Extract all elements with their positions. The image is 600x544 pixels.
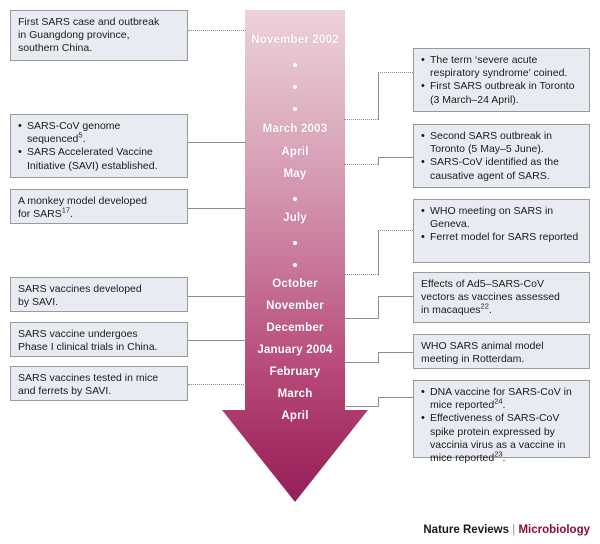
- figure-canvas: November 2002March 2003AprilMayJulyOctob…: [0, 0, 600, 544]
- event-box-ad5-macaques[interactable]: Effects of Ad5–SARS-CoV vectors as vacci…: [413, 272, 590, 323]
- list-item: Ferret model for SARS reported: [421, 231, 582, 244]
- connector-right-2b: [378, 157, 379, 165]
- connector-left-5: [188, 340, 246, 341]
- list-item: SARS-CoV identified as the causative age…: [421, 156, 582, 182]
- list-item: First SARS outbreak in Toronto (3 March–…: [421, 80, 582, 106]
- connector-right-3a: [344, 274, 378, 275]
- ref-marker: 24: [494, 397, 502, 406]
- event-box-dna-vaccine-vaccinia[interactable]: DNA vaccine for SARS-CoV in mice reporte…: [413, 380, 590, 458]
- box-line: SARS vaccine undergoes: [18, 328, 180, 341]
- box-line: First SARS case and outbreak: [18, 16, 180, 29]
- connector-left-4: [188, 296, 246, 297]
- connector-left-3: [188, 208, 246, 209]
- event-box-term-coined-toronto1[interactable]: The term ‘severe acute respiratory syndr…: [413, 48, 590, 112]
- connector-left-2: [188, 142, 246, 143]
- box-line: SARS vaccines developed: [18, 283, 180, 296]
- event-box-guangdong[interactable]: First SARS case and outbreak in Guangdon…: [10, 10, 188, 61]
- connector-right-1a: [344, 119, 378, 120]
- connector-right-1b: [378, 72, 379, 120]
- connector-left-6: [188, 384, 246, 385]
- connector-right-3c: [378, 230, 413, 231]
- list-item: DNA vaccine for SARS-CoV in mice reporte…: [421, 386, 582, 412]
- timeline-arrow: [222, 10, 368, 502]
- event-box-mice-ferrets-savi[interactable]: SARS vaccines tested in mice and ferrets…: [10, 366, 188, 401]
- event-box-genome-savi[interactable]: SARS-CoV genome sequenced5. SARS Acceler…: [10, 114, 188, 178]
- credit-separator: |: [512, 524, 515, 536]
- event-box-who-geneva-ferret[interactable]: WHO meeting on SARS in Geneva. Ferret mo…: [413, 199, 590, 263]
- connector-right-6c: [378, 397, 413, 398]
- box-line: meeting in Rotterdam.: [421, 353, 582, 366]
- connector-right-2a: [344, 164, 378, 165]
- connector-right-2c: [378, 157, 413, 158]
- box-line: in Guangdong province,: [18, 29, 180, 42]
- event-box-savi-vaccines[interactable]: SARS vaccines developed by SAVI.: [10, 277, 188, 312]
- box-line: SARS vaccines tested in mice: [18, 372, 180, 385]
- event-box-who-rotterdam[interactable]: WHO SARS animal model meeting in Rotterd…: [413, 334, 590, 369]
- box-line: WHO SARS animal model: [421, 340, 582, 353]
- box-line: by SAVI.: [18, 296, 180, 309]
- box-line: Phase I clinical trials in China.: [18, 341, 180, 354]
- box-line: southern China.: [18, 42, 180, 55]
- connector-right-6a: [344, 406, 378, 407]
- list-item: The term ‘severe acute respiratory syndr…: [421, 54, 582, 80]
- box-line: for SARS17.: [18, 208, 180, 221]
- ref-marker: 22: [481, 302, 489, 311]
- list-item: WHO meeting on SARS in Geneva.: [421, 205, 582, 231]
- connector-right-4a: [344, 318, 378, 319]
- box-line: vectors as vaccines assessed: [421, 291, 582, 304]
- connector-right-6b: [378, 397, 379, 407]
- list-item: Second SARS outbreak in Toronto (5 May–5…: [421, 130, 582, 156]
- connector-left-1: [188, 30, 246, 31]
- connector-right-1c: [378, 72, 413, 73]
- list-item: Effectiveness of SARS-CoV spike protein …: [421, 412, 582, 465]
- connector-right-3b: [378, 230, 379, 275]
- ref-marker: 17: [62, 206, 70, 215]
- connector-right-5a: [344, 362, 378, 363]
- journal-section: Microbiology: [518, 524, 590, 536]
- connector-right-5b: [378, 352, 379, 363]
- journal-name: Nature Reviews: [423, 524, 509, 536]
- list-item: SARS Accelerated Vaccine Initiative (SAV…: [18, 146, 180, 172]
- event-box-toronto2-causative-agent[interactable]: Second SARS outbreak in Toronto (5 May–5…: [413, 124, 590, 188]
- list-item: SARS-CoV genome sequenced5.: [18, 120, 180, 146]
- box-line: A monkey model developed: [18, 195, 180, 208]
- connector-right-4b: [378, 296, 379, 319]
- ref-marker: 23: [494, 450, 502, 459]
- journal-credit: Nature Reviews | Microbiology: [423, 524, 590, 536]
- box-line: in macaques22.: [421, 304, 582, 317]
- timeline-arrow-shape: [222, 10, 368, 502]
- event-box-phase-i-china[interactable]: SARS vaccine undergoes Phase I clinical …: [10, 322, 188, 357]
- event-box-monkey-model[interactable]: A monkey model developed for SARS17.: [10, 189, 188, 224]
- box-line: and ferrets by SAVI.: [18, 385, 180, 398]
- connector-right-4c: [378, 296, 413, 297]
- box-line: Effects of Ad5–SARS-CoV: [421, 278, 582, 291]
- connector-right-5c: [378, 352, 413, 353]
